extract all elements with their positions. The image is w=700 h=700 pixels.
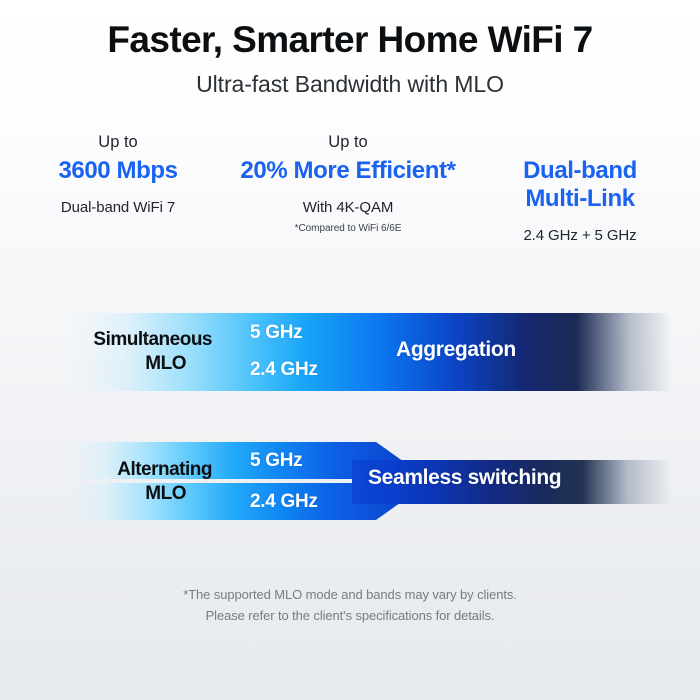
mlo-row-alternating: Alternating MLO: [0, 440, 700, 524]
page-subtitle: Ultra-fast Bandwidth with MLO: [0, 71, 700, 98]
feature-speed-headline: 3600 Mbps: [18, 157, 218, 185]
feature-efficiency-note: *Compared to WiFi 6/6E: [226, 223, 470, 234]
mlo-simultaneous-band-24ghz: 2.4 GHz: [250, 359, 318, 381]
header: Faster, Smarter Home WiFi 7 Ultra-fast B…: [0, 0, 700, 98]
feature-multilink-eyebrow: [478, 131, 682, 153]
footnote-line-1: *The supported MLO mode and bands may va…: [0, 584, 700, 605]
feature-multilink-sub: 2.4 GHz + 5 GHz: [478, 227, 682, 244]
feature-multilink-headline-line1: Dual-band: [523, 157, 637, 184]
mlo-row-simultaneous: Simultaneous MLO: [0, 310, 700, 394]
mlo-alternating-band-5ghz: 5 GHz: [250, 450, 302, 472]
feature-columns: Up to 3600 Mbps Dual-band WiFi 7 Up to 2…: [0, 131, 700, 244]
feature-multilink-headline-line2: Multi-Link: [525, 185, 634, 212]
feature-speed-eyebrow: Up to: [18, 131, 218, 153]
feature-speed-sub: Dual-band WiFi 7: [18, 199, 218, 216]
page-title: Faster, Smarter Home WiFi 7: [0, 18, 700, 62]
feature-efficiency: Up to 20% More Efficient* With 4K-QAM *C…: [222, 131, 474, 234]
footnote: *The supported MLO mode and bands may va…: [0, 584, 700, 627]
mlo-alternating-band-24ghz: 2.4 GHz: [250, 491, 318, 513]
footnote-line-2: Please refer to the client's specificati…: [0, 605, 700, 626]
mlo-simultaneous-mode-text: Aggregation: [396, 338, 516, 362]
wifi7-feature-page: Faster, Smarter Home WiFi 7 Ultra-fast B…: [0, 0, 700, 700]
mlo-alternating-mode-text: Seamless switching: [368, 466, 561, 490]
feature-efficiency-headline: 20% More Efficient*: [226, 157, 470, 185]
feature-efficiency-eyebrow: Up to: [226, 131, 470, 153]
feature-multilink: Dual-band Multi-Link 2.4 GHz + 5 GHz: [474, 131, 686, 244]
feature-speed: Up to 3600 Mbps Dual-band WiFi 7: [14, 131, 222, 216]
mlo-simultaneous-band-5ghz: 5 GHz: [250, 322, 302, 344]
feature-multilink-headline: Dual-band Multi-Link: [478, 157, 682, 213]
feature-efficiency-sub: With 4K-QAM: [226, 199, 470, 216]
mlo-simultaneous-aggregated-bar: [72, 313, 672, 391]
